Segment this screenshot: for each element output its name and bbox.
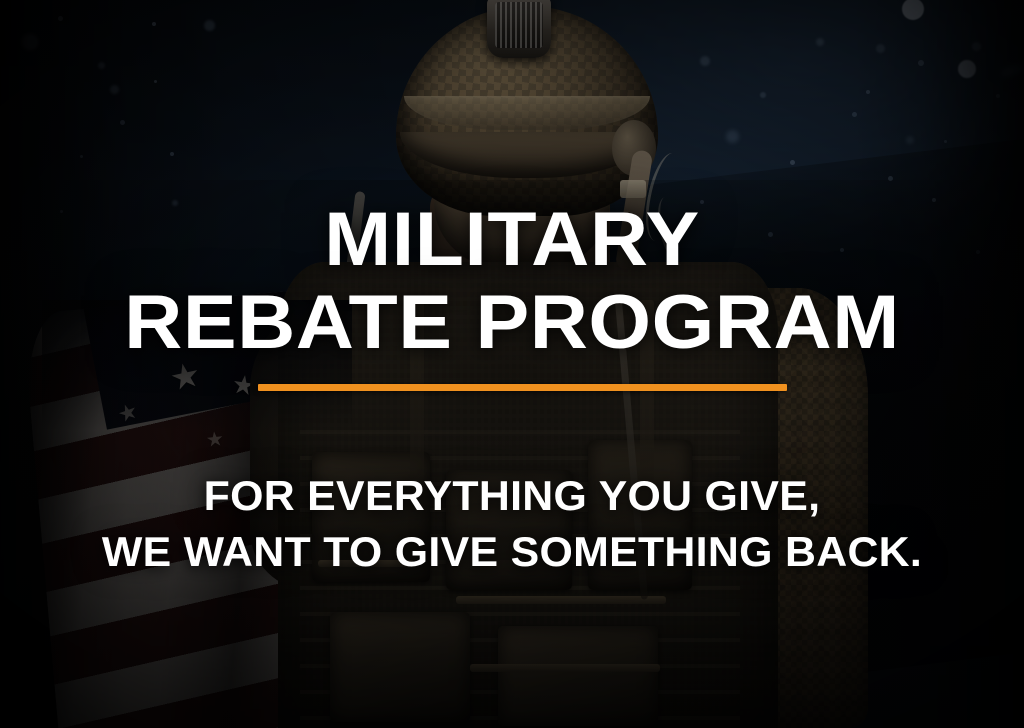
flag-top-shadow <box>42 300 352 430</box>
vest-pouch-center <box>446 470 572 590</box>
shoulder-strap-right <box>640 300 654 500</box>
vest-strap-1 <box>318 560 414 567</box>
vest-pouch-lower-center <box>498 626 658 726</box>
helmet-id-patch <box>620 180 646 198</box>
vest-strap-3 <box>470 664 660 672</box>
vest-strap-2 <box>456 596 666 604</box>
shoulder-strap-left <box>410 300 424 480</box>
nvg-ridges <box>495 2 543 48</box>
military-rebate-banner: ★ ★ ★ ★ ★ <box>0 0 1024 728</box>
night-vision-mount-icon <box>487 0 551 58</box>
vest-pouch-lower-left <box>330 612 470 722</box>
